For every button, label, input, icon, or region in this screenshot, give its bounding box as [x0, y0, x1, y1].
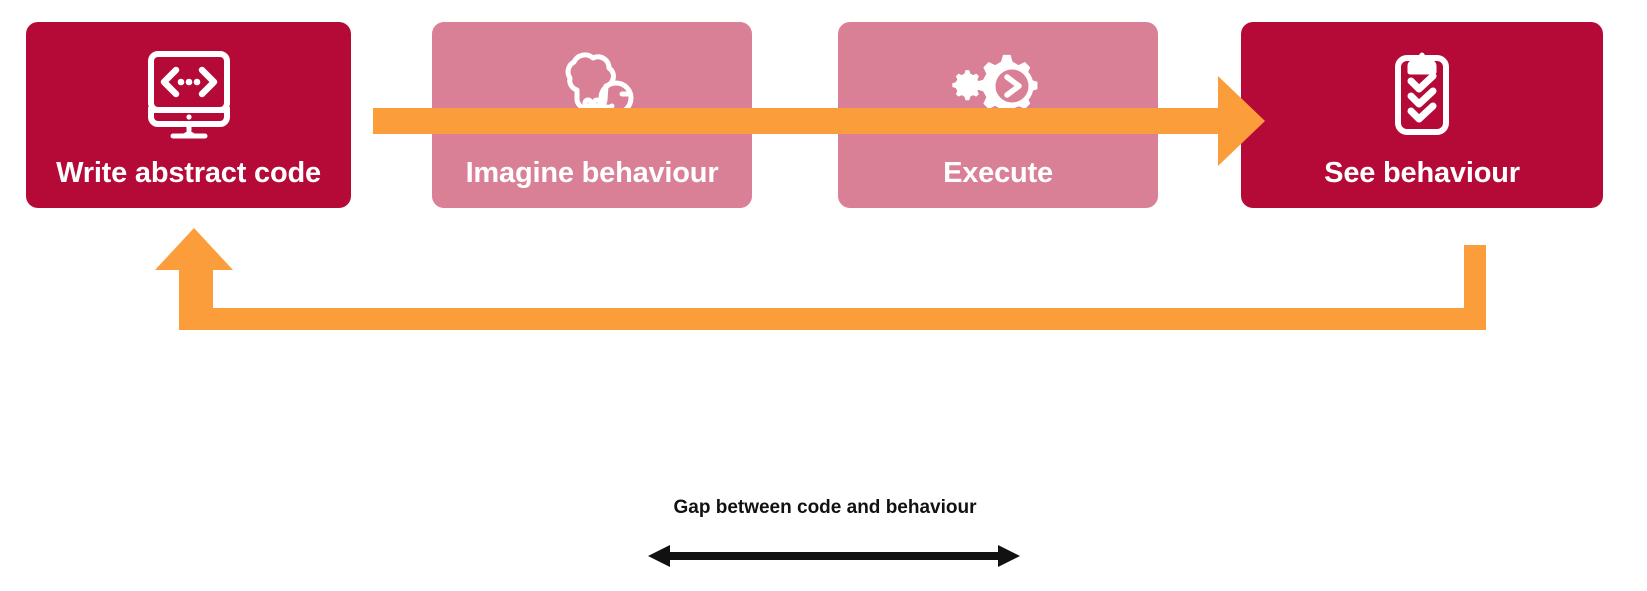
stage-label-write-abstract-code: Write abstract code: [26, 159, 351, 188]
monitor-code-icon: [137, 48, 241, 140]
stage-label-execute: Execute: [838, 159, 1158, 188]
stage-box-write-abstract-code[interactable]: Write abstract code: [26, 22, 351, 208]
clipboard-checks-icon: [1370, 48, 1474, 140]
gap-caption: Gap between code and behaviour: [560, 498, 1090, 517]
gears-play-icon: [946, 48, 1050, 140]
stage-box-see-behaviour[interactable]: See behaviour: [1241, 22, 1603, 208]
stage-label-imagine-behaviour: Imagine behaviour: [432, 159, 752, 188]
diagram-canvas: Write abstract code Imagine behaviour: [0, 0, 1647, 591]
gap-double-headed-arrow: [648, 542, 1020, 570]
stage-label-see-behaviour: See behaviour: [1241, 159, 1603, 188]
stage-box-execute[interactable]: Execute: [838, 22, 1158, 208]
stage-box-imagine-behaviour[interactable]: Imagine behaviour: [432, 22, 752, 208]
feedback-loop-arrow: [155, 228, 1495, 336]
thought-cloud-head-icon: [540, 48, 644, 140]
